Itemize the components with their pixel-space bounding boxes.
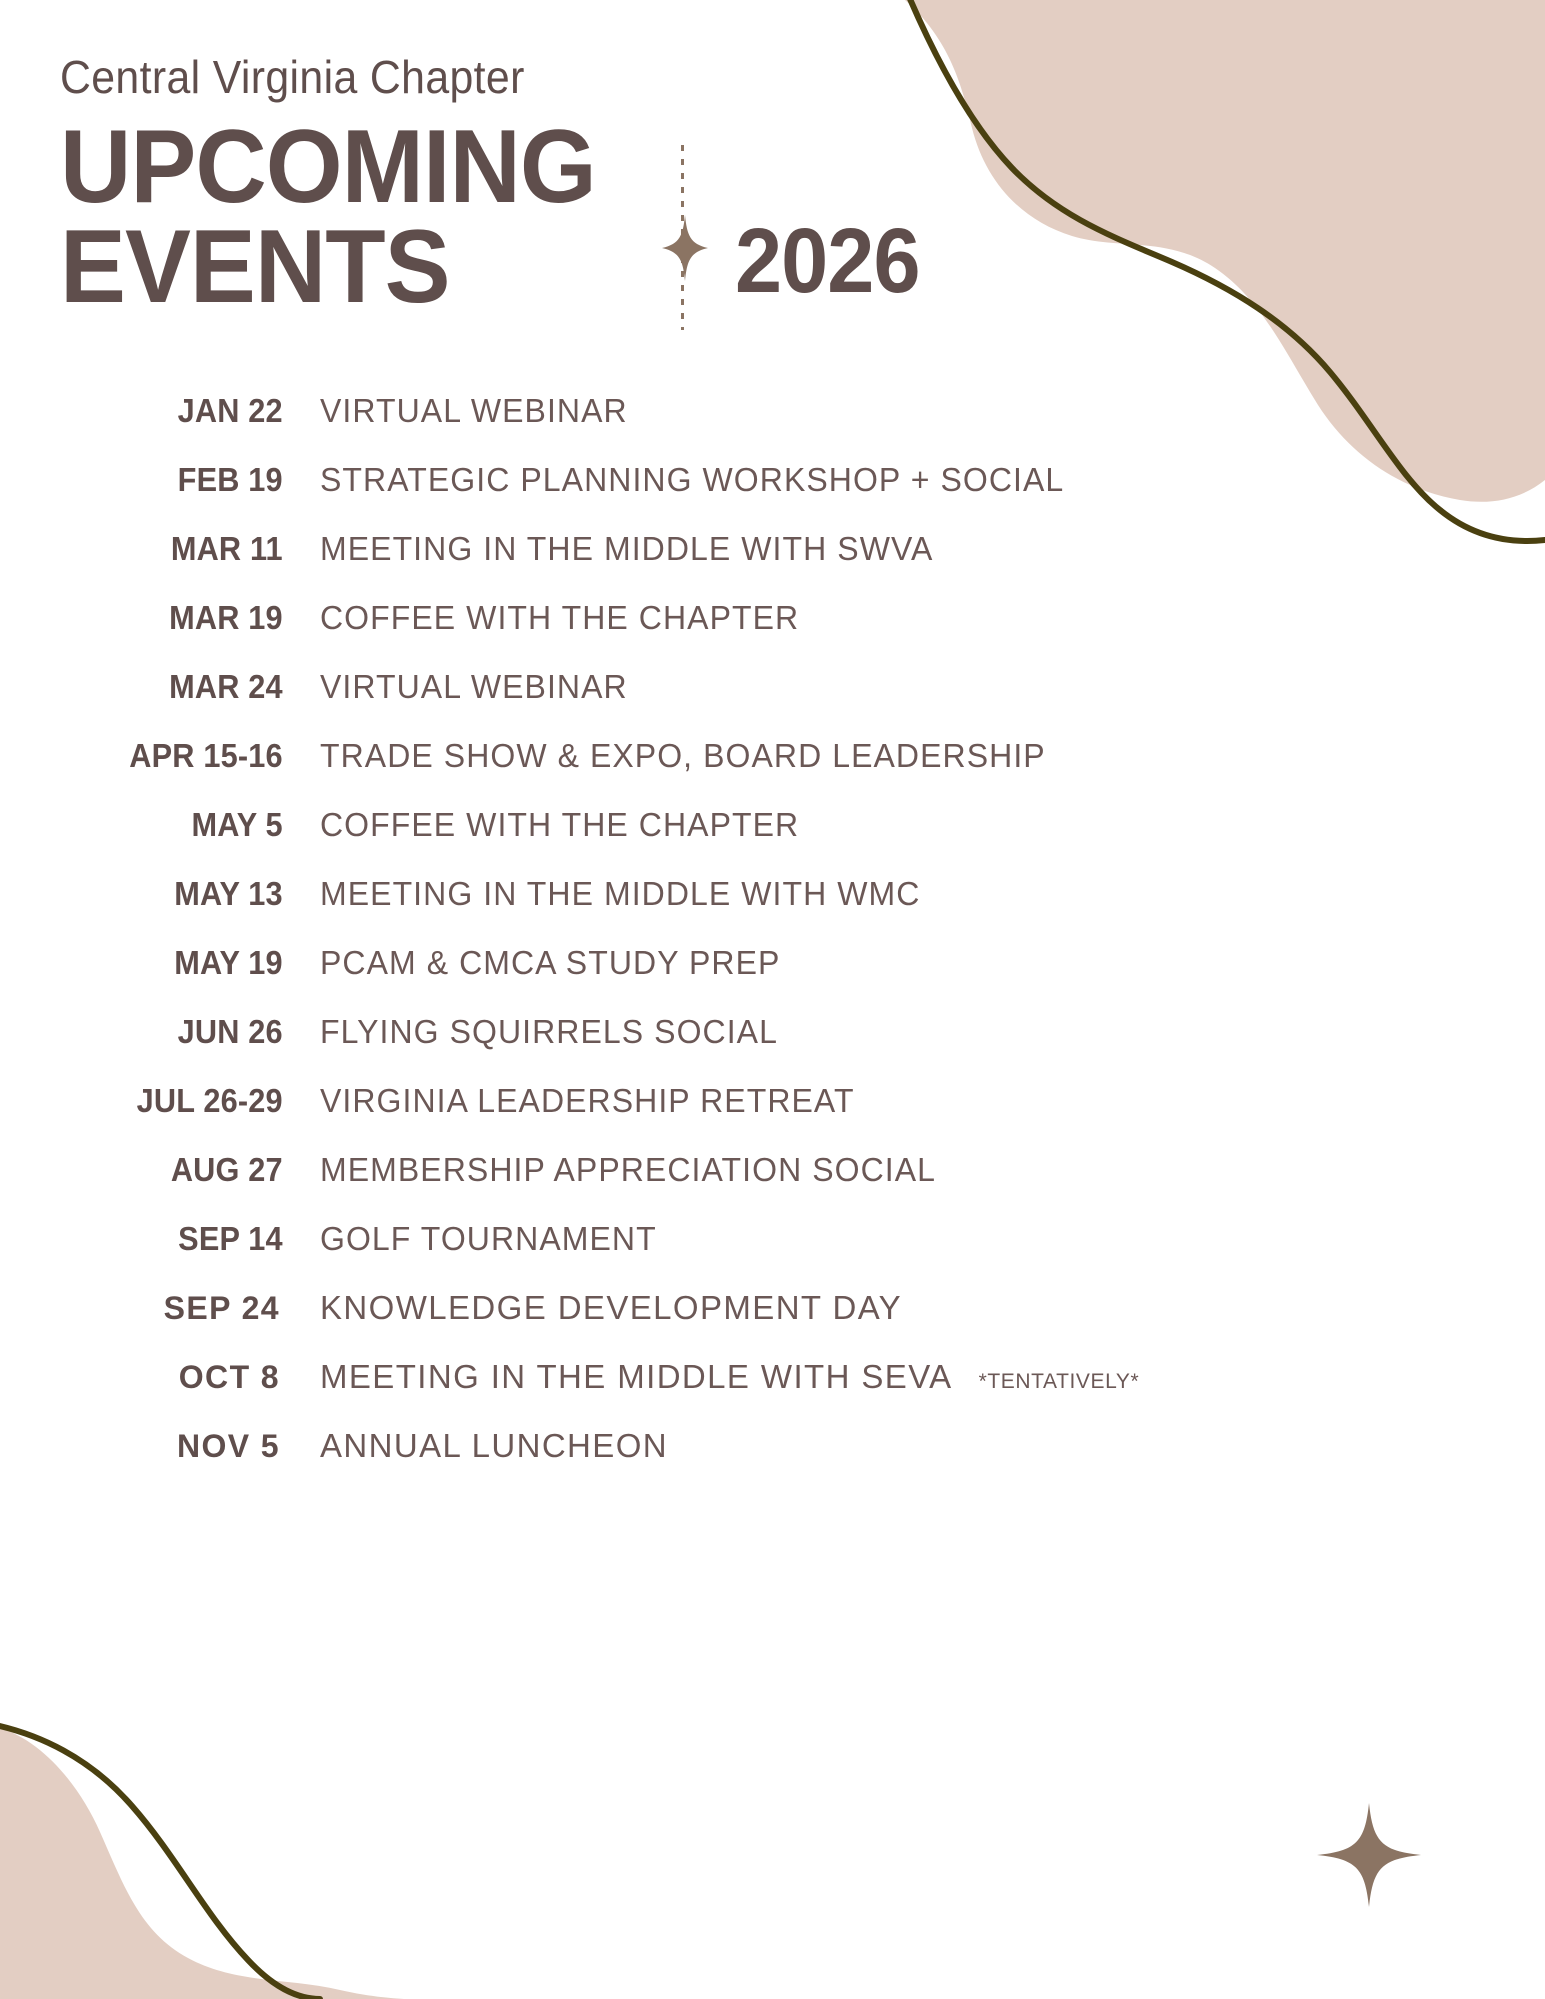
event-date: AUG 27: [22, 1151, 320, 1189]
event-name: MEETING IN THE MIDDLE WITH SEVA: [320, 1358, 953, 1396]
event-name: COFFEE WITH THE CHAPTER: [320, 599, 799, 637]
event-date: SEP 14: [22, 1220, 320, 1258]
event-name: FLYING SQUIRRELS SOCIAL: [320, 1013, 778, 1051]
event-row[interactable]: MAR 11MEETING IN THE MIDDLE WITH SWVA: [0, 530, 1545, 599]
event-row[interactable]: NOV 5ANNUAL LUNCHEON: [0, 1427, 1545, 1496]
four-point-star-icon: [662, 215, 708, 281]
olive-curve-bottom: [0, 1722, 320, 1999]
event-row[interactable]: MAY 5COFFEE WITH THE CHAPTER: [0, 806, 1545, 875]
event-date: FEB 19: [22, 461, 320, 499]
event-row[interactable]: FEB 19STRATEGIC PLANNING WORKSHOP + SOCI…: [0, 461, 1545, 530]
event-row[interactable]: MAY 13MEETING IN THE MIDDLE WITH WMC: [0, 875, 1545, 944]
event-name: VIRGINIA LEADERSHIP RETREAT: [320, 1082, 855, 1120]
event-date: JUL 26-29: [22, 1082, 320, 1120]
event-name: KNOWLEDGE DEVELOPMENT DAY: [320, 1289, 902, 1327]
event-name: STRATEGIC PLANNING WORKSHOP + SOCIAL: [320, 461, 1064, 499]
poster-canvas: Central Virginia Chapter UPCOMING EVENTS…: [0, 0, 1545, 1999]
poster-header: Central Virginia Chapter UPCOMING EVENTS: [60, 52, 1260, 318]
event-name: GOLF TOURNAMENT: [320, 1220, 657, 1258]
page-title: UPCOMING EVENTS: [60, 117, 1260, 319]
event-date: MAR 11: [22, 530, 320, 568]
event-date: MAR 19: [22, 599, 320, 637]
event-date: OCT 8: [0, 1359, 320, 1396]
event-date: JAN 22: [22, 392, 320, 430]
event-row[interactable]: MAR 24VIRTUAL WEBINAR: [0, 668, 1545, 737]
event-name: TRADE SHOW & EXPO, BOARD LEADERSHIP: [320, 737, 1046, 775]
title-line-2: EVENTS: [60, 217, 596, 318]
event-row[interactable]: APR 15-16TRADE SHOW & EXPO, BOARD LEADER…: [0, 737, 1545, 806]
title-line-1: UPCOMING: [60, 117, 596, 218]
event-date: MAR 24: [22, 668, 320, 706]
four-point-star-icon: [1317, 1803, 1421, 1907]
event-row[interactable]: SEP 14GOLF TOURNAMENT: [0, 1220, 1545, 1289]
event-date: JUN 26: [22, 1013, 320, 1051]
event-name: MEETING IN THE MIDDLE WITH WMC: [320, 875, 920, 913]
event-date: MAY 5: [22, 806, 320, 844]
event-list: JAN 22VIRTUAL WEBINARFEB 19STRATEGIC PLA…: [0, 392, 1545, 1496]
year-block: 2026: [735, 215, 936, 307]
event-row[interactable]: SEP 24KNOWLEDGE DEVELOPMENT DAY: [0, 1289, 1545, 1358]
event-row[interactable]: JAN 22VIRTUAL WEBINAR: [0, 392, 1545, 461]
event-name: PCAM & CMCA STUDY PREP: [320, 944, 780, 982]
year-label: 2026: [735, 215, 920, 307]
event-name: MEETING IN THE MIDDLE WITH SWVA: [320, 530, 933, 568]
event-row[interactable]: AUG 27MEMBERSHIP APPRECIATION SOCIAL: [0, 1151, 1545, 1220]
event-date: NOV 5: [0, 1428, 320, 1465]
blob-bottom-left: [0, 1728, 404, 1999]
event-date: MAY 13: [22, 875, 320, 913]
event-row[interactable]: JUN 26FLYING SQUIRRELS SOCIAL: [0, 1013, 1545, 1082]
event-row[interactable]: OCT 8MEETING IN THE MIDDLE WITH SEVA*TEN…: [0, 1358, 1545, 1427]
event-name: VIRTUAL WEBINAR: [320, 392, 628, 430]
event-name: VIRTUAL WEBINAR: [320, 668, 628, 706]
event-date: MAY 19: [22, 944, 320, 982]
event-note: *TENTATIVELY*: [979, 1370, 1140, 1394]
event-row[interactable]: MAY 19PCAM & CMCA STUDY PREP: [0, 944, 1545, 1013]
chapter-name: Central Virginia Chapter: [60, 52, 1176, 103]
event-row[interactable]: MAR 19COFFEE WITH THE CHAPTER: [0, 599, 1545, 668]
event-name: ANNUAL LUNCHEON: [320, 1427, 668, 1465]
event-row[interactable]: JUL 26-29VIRGINIA LEADERSHIP RETREAT: [0, 1082, 1545, 1151]
event-date: SEP 24: [0, 1290, 320, 1327]
event-name: COFFEE WITH THE CHAPTER: [320, 806, 799, 844]
event-name: MEMBERSHIP APPRECIATION SOCIAL: [320, 1151, 936, 1189]
event-date: APR 15-16: [22, 737, 320, 775]
